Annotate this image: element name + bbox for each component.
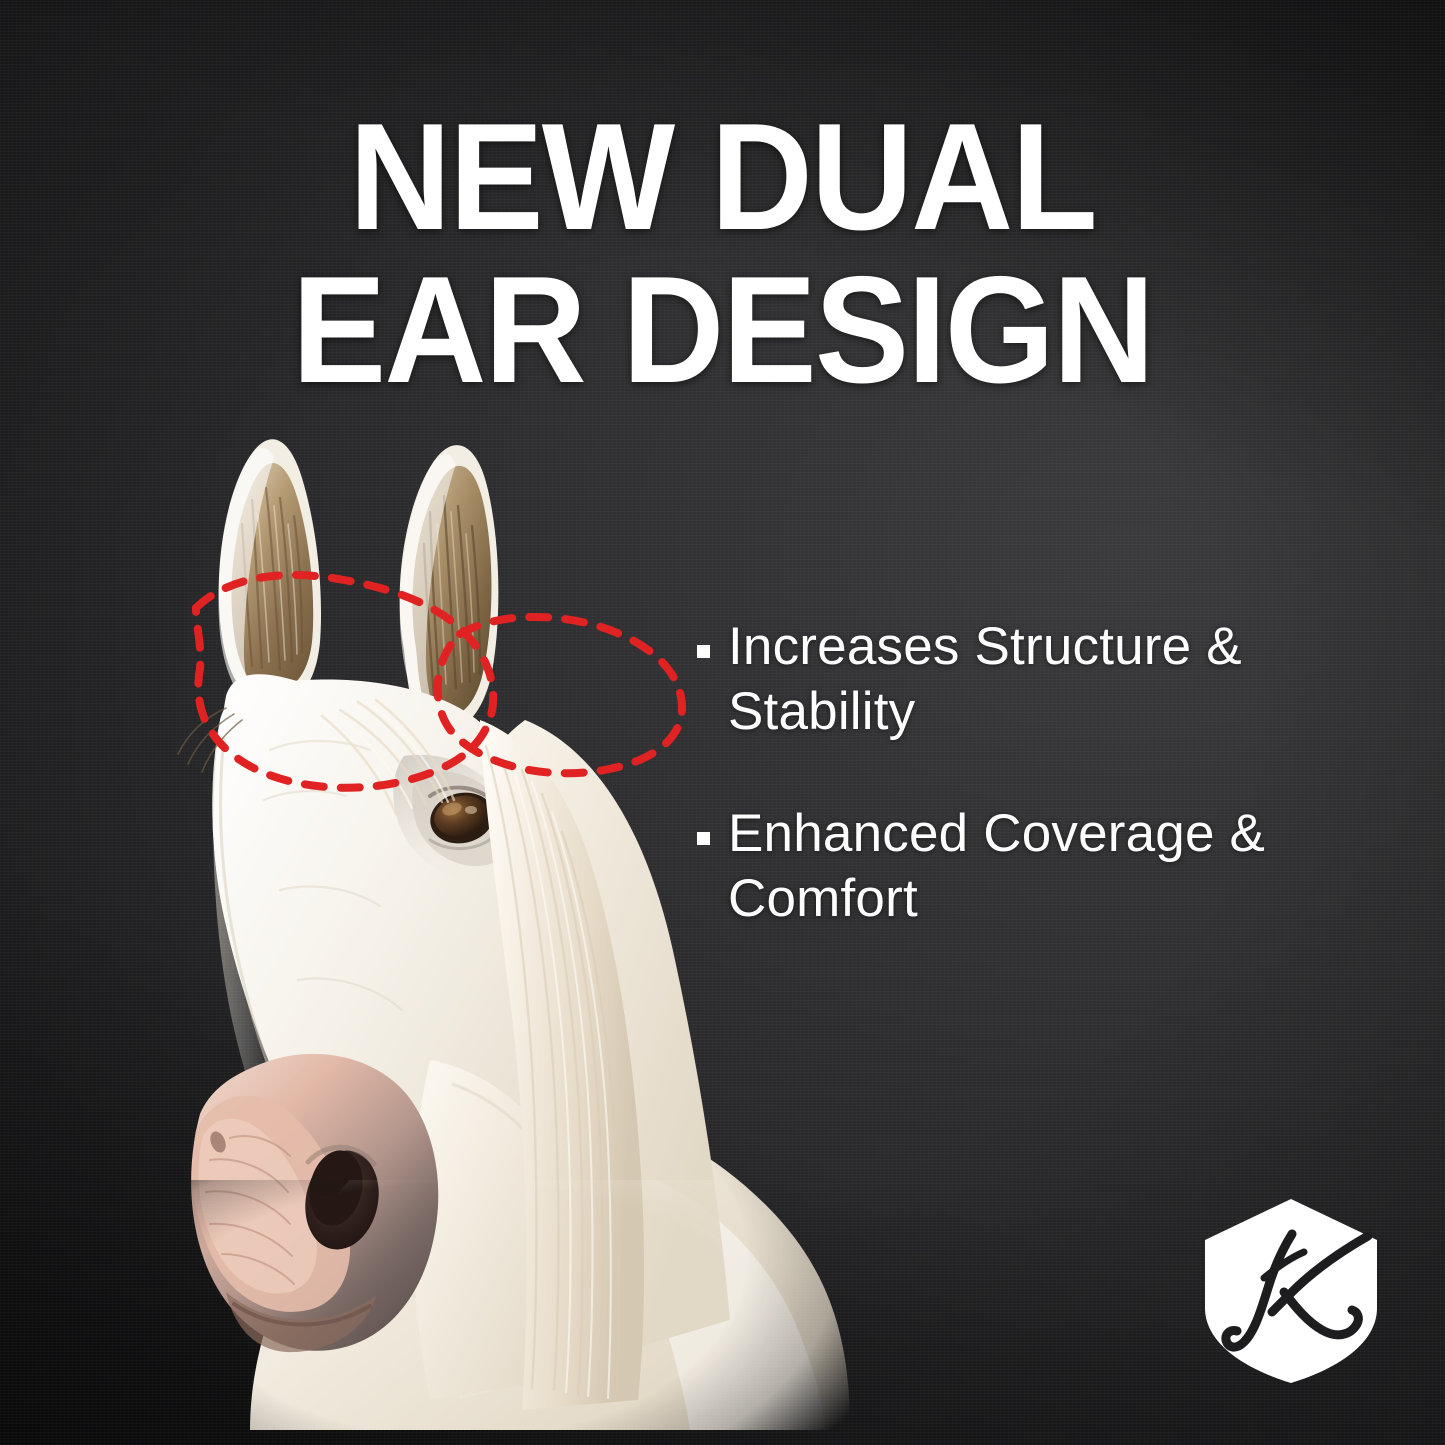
feature-text: Enhanced Coverage & Comfort: [728, 802, 1357, 931]
brand-logo: [1200, 1196, 1382, 1386]
list-item: Increases Structure & Stability: [697, 615, 1357, 744]
shield-k-logo-icon: [1200, 1196, 1382, 1386]
square-bullet-icon: [697, 645, 710, 658]
feature-text: Increases Structure & Stability: [728, 615, 1357, 744]
feature-list: Increases Structure & Stability Enhanced…: [697, 615, 1357, 990]
horse-ear-right: [400, 445, 499, 733]
list-item: Enhanced Coverage & Comfort: [697, 802, 1357, 931]
promo-image: NEW DUAL EAR DESIGN: [0, 0, 1445, 1445]
square-bullet-icon: [697, 832, 710, 845]
